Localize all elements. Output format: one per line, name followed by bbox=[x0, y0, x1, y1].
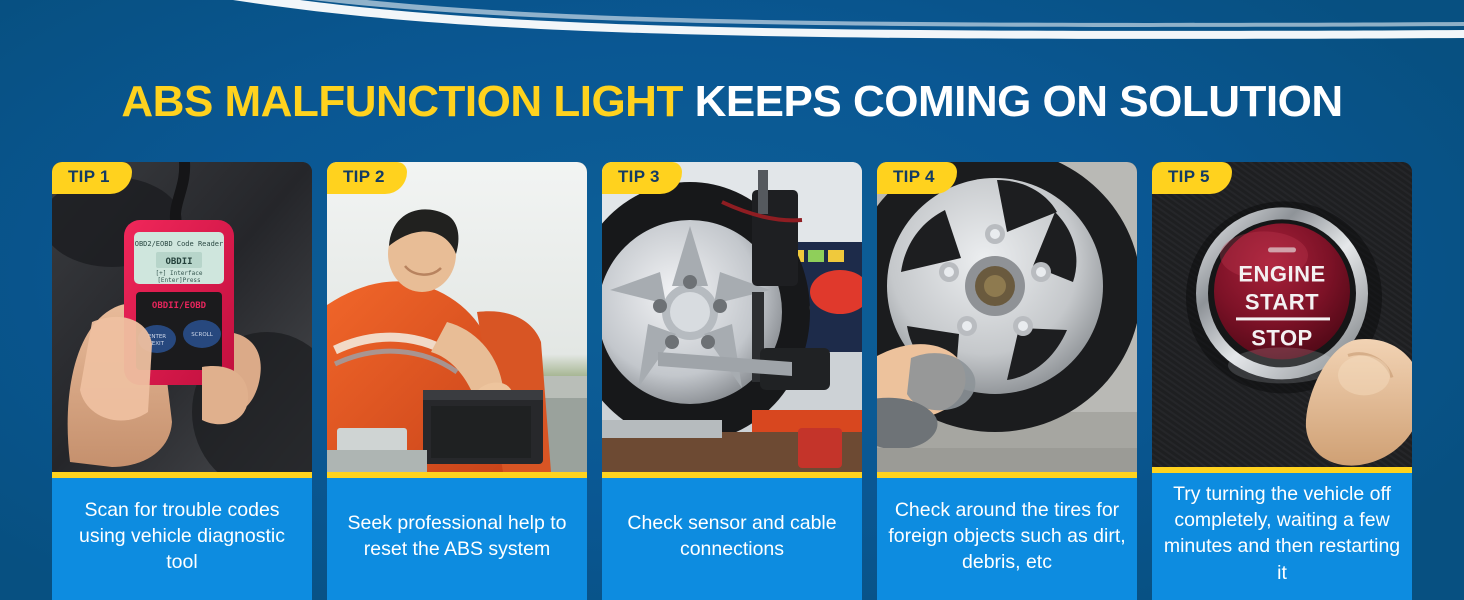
tip-card-4[interactable]: Check around the tires for foreign objec… bbox=[877, 162, 1137, 600]
tip-image-4 bbox=[877, 162, 1137, 472]
svg-text:ENGINE: ENGINE bbox=[1238, 261, 1325, 286]
tip-image-3 bbox=[602, 162, 862, 472]
svg-text:[+] Interface: [+] Interface bbox=[156, 270, 203, 277]
tip-caption-1: Scan for trouble codes using vehicle dia… bbox=[52, 478, 312, 600]
infographic-canvas: ABS MALFUNCTION LIGHT KEEPS COMING ON SO… bbox=[0, 0, 1464, 600]
svg-text:OBD2/EOBD Code Reader: OBD2/EOBD Code Reader bbox=[135, 240, 224, 248]
tip-badge-3: TIP 3 bbox=[602, 162, 682, 194]
tip-caption-2: Seek professional help to reset the ABS … bbox=[327, 478, 587, 600]
svg-text:OBDII/EOBD: OBDII/EOBD bbox=[152, 301, 207, 311]
tip-badge-2: TIP 2 bbox=[327, 162, 407, 194]
title-highlight: ABS MALFUNCTION LIGHT bbox=[121, 77, 682, 126]
svg-text:STOP: STOP bbox=[1251, 325, 1313, 350]
tip-caption-3: Check sensor and cable connections bbox=[602, 478, 862, 600]
svg-text:[Enter]Press: [Enter]Press bbox=[157, 277, 201, 284]
swoosh-decoration bbox=[0, 0, 1464, 60]
tip-image-5: ENGINE START STOP bbox=[1152, 162, 1412, 467]
svg-text:START: START bbox=[1245, 289, 1319, 314]
svg-text:SCROLL: SCROLL bbox=[191, 332, 214, 338]
tip-image-2 bbox=[327, 162, 587, 472]
title-rest: KEEPS COMING ON SOLUTION bbox=[695, 77, 1343, 126]
tip-badge-1: TIP 1 bbox=[52, 162, 132, 194]
tip-card-5[interactable]: ENGINE START STOP Try turning the vehicl… bbox=[1152, 162, 1412, 600]
tip-card-2[interactable]: Seek professional help to reset the ABS … bbox=[327, 162, 587, 600]
tip-card-1[interactable]: OBD2/EOBD Code Reader OBDII [+] Interfac… bbox=[52, 162, 312, 600]
svg-text:OBDII: OBDII bbox=[165, 257, 192, 267]
svg-text:/EXIT: /EXIT bbox=[150, 341, 165, 347]
tip-caption-4: Check around the tires for foreign objec… bbox=[877, 478, 1137, 600]
tip-badge-5: TIP 5 bbox=[1152, 162, 1232, 194]
tips-row: OBD2/EOBD Code Reader OBDII [+] Interfac… bbox=[52, 162, 1414, 600]
tip-image-1: OBD2/EOBD Code Reader OBDII [+] Interfac… bbox=[52, 162, 312, 472]
page-title: ABS MALFUNCTION LIGHT KEEPS COMING ON SO… bbox=[0, 80, 1464, 124]
tip-badge-4: TIP 4 bbox=[877, 162, 957, 194]
tip-caption-5: Try turning the vehicle off completely, … bbox=[1152, 473, 1412, 600]
tip-card-3[interactable]: Check sensor and cable connections TIP 3 bbox=[602, 162, 862, 600]
